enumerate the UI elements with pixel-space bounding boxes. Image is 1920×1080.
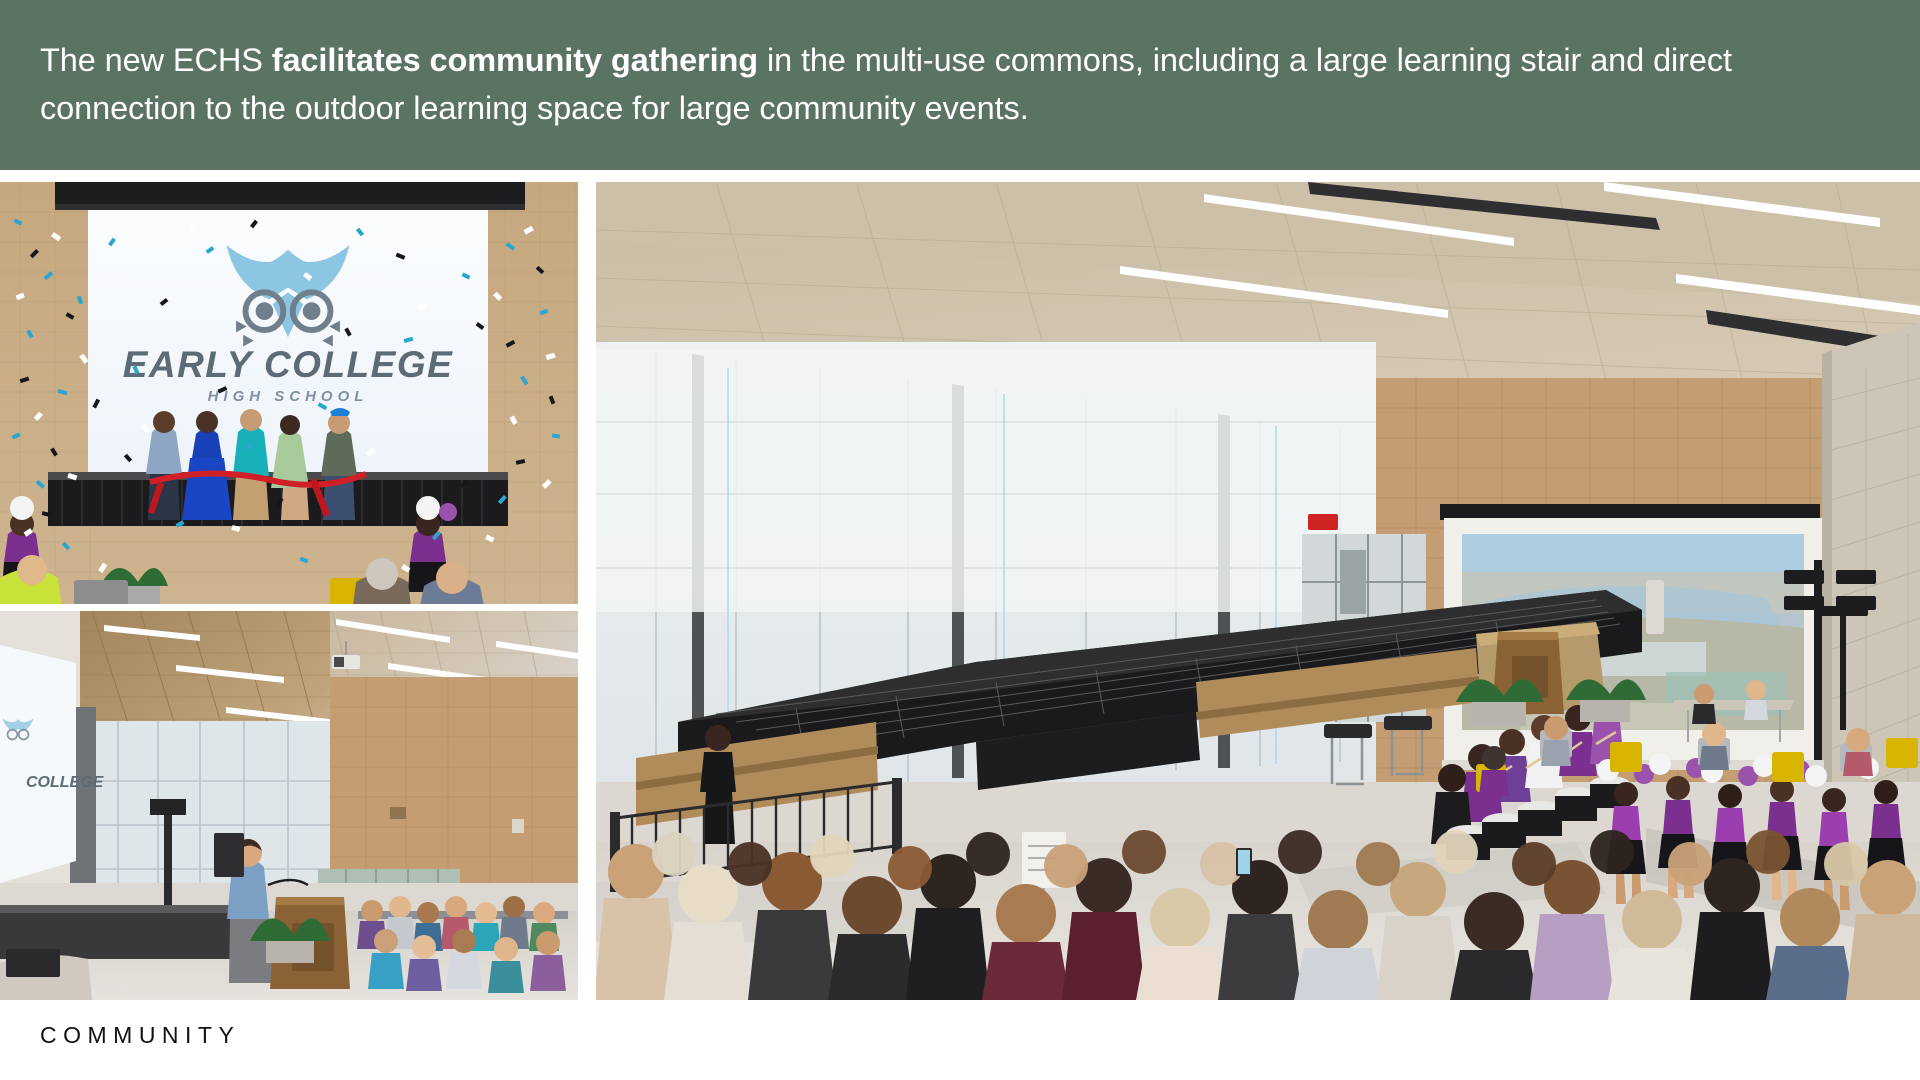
caption-segment-1: The new ECHS [40, 42, 272, 78]
caption-segment-bold: facilitates community gathering [272, 42, 758, 78]
photo-grid: EARLY COLLEGE HIGH SCHOOL [0, 182, 1920, 1000]
screen-wordmark-primary: EARLY COLLEGE [123, 344, 454, 385]
photo-assembly-presentation: COLLEGE [0, 611, 578, 1000]
header-caption-band: The new ECHS facilitates community gathe… [0, 0, 1920, 170]
screen-wordmark-secondary: HIGH SCHOOL [208, 388, 369, 405]
header-caption-text: The new ECHS facilitates community gathe… [40, 36, 1880, 132]
photo-commons-overview [596, 182, 1920, 1000]
assembly-screen-wordmark: COLLEGE [26, 774, 105, 791]
section-label-community: COMMUNITY [40, 1022, 240, 1049]
photo-ribbon-cutting: EARLY COLLEGE HIGH SCHOOL [0, 182, 578, 604]
